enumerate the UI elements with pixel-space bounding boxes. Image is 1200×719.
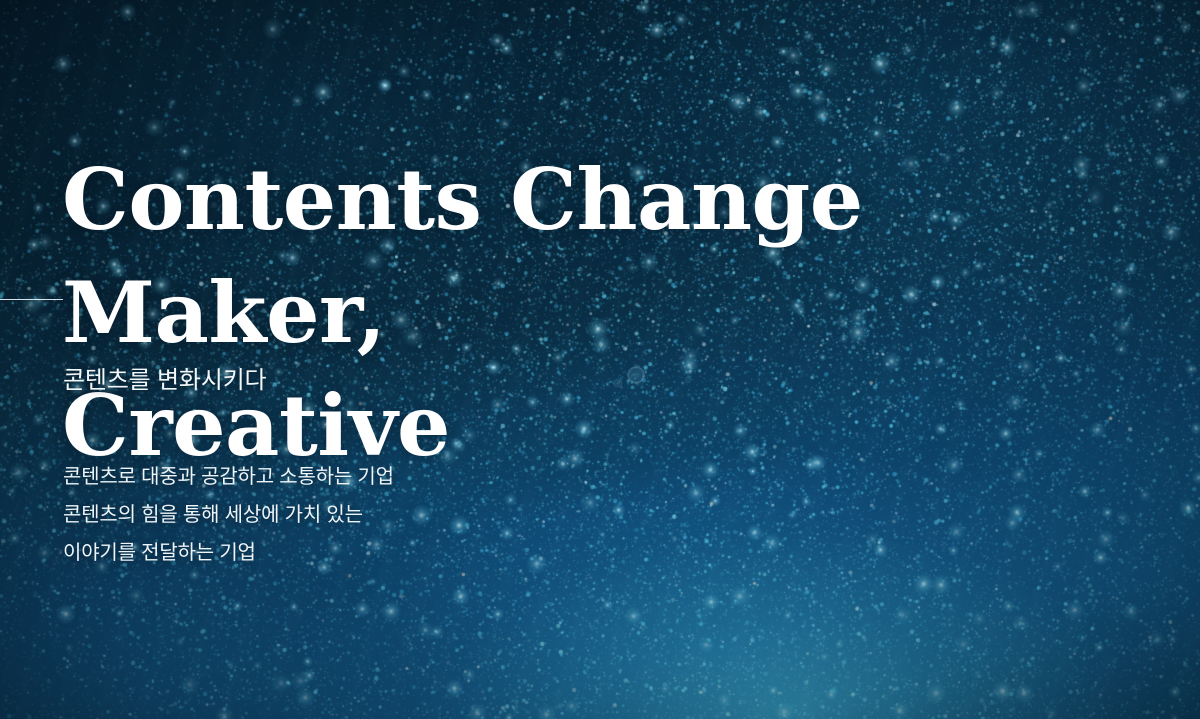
- hero-content: Contents Change Maker, Creative 콘텐츠를 변화시…: [62, 0, 1152, 719]
- hero-banner: Contents Change Maker, Creative 콘텐츠를 변화시…: [0, 0, 1200, 719]
- page-title: Contents Change Maker, Creative: [62, 143, 1162, 482]
- hero-subtitle: 콘텐츠를 변화시키다: [63, 366, 266, 396]
- hero-description: 콘텐츠로 대중과 공감하고 소통하는 기업 콘텐츠의 힘을 통해 세상에 가치 …: [63, 458, 394, 572]
- accent-rule: [0, 299, 63, 300]
